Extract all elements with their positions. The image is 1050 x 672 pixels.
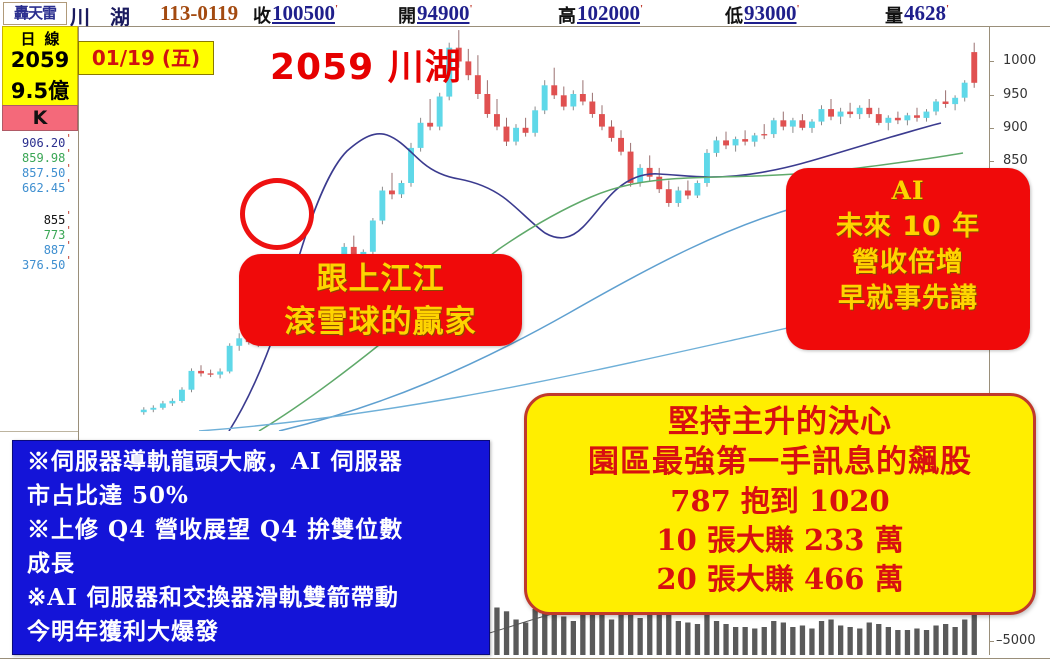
callout-yellow-line-1: 堅持主升的決心	[527, 402, 1033, 442]
low-label: 低	[725, 2, 743, 28]
close-value: 100500'	[272, 1, 338, 26]
callout-blue-line-2: 市占比達 50%	[27, 479, 489, 513]
callout-red-right-line-2: 未來 10 年	[786, 209, 1030, 245]
high-label: 高	[558, 2, 576, 28]
highlight-circle-annotation	[240, 178, 314, 250]
callout-blue-line-6: 今明年獲利大爆發	[27, 615, 489, 649]
open-value: 94900'	[417, 1, 473, 26]
panel-divider	[0, 431, 78, 432]
callout-yellow-right[interactable]: 堅持主升的決心 園區最強第一手訊息的飆股 787 抱到 1020 10 張大賺 …	[524, 393, 1036, 615]
open-label: 開	[398, 2, 416, 28]
broker-logo: 轟天雷	[3, 2, 67, 25]
close-label: 收	[253, 2, 271, 28]
vol-value-4: 376.50'	[0, 254, 72, 272]
y-label-850: 850	[1003, 153, 1028, 168]
callout-blue-line-5: ※AI 伺服器和交換器滑軌雙箭帶動	[27, 581, 489, 615]
page-title: 2059 川湖	[270, 38, 462, 90]
y-tick-vol-5000	[989, 641, 994, 642]
quote-header-bar: 轟天雷 川 湖 113-0119 收 100500' 開 94900' 高 10…	[0, 0, 1050, 27]
stock-code: 2059	[3, 48, 77, 72]
y-tick-900	[989, 128, 994, 129]
callout-red-left-line-2: 滾雪球的贏家	[239, 301, 522, 343]
turnover-value: 9.5億	[3, 75, 77, 105]
callout-blue-line-1: ※伺服器導軌龍頭大廠，AI 伺服器	[27, 445, 489, 479]
callout-red-right-line-4: 早就事先講	[786, 281, 1030, 317]
stock-name: 川 湖	[70, 1, 130, 30]
ma-value-4: 662.45'	[0, 177, 72, 195]
callout-blue-line-3: ※上修 Q4 營收展望 Q4 拚雙位數	[27, 513, 489, 547]
callout-red-left[interactable]: 跟上江江 滾雪球的贏家	[239, 254, 522, 346]
y-label-900: 900	[1003, 120, 1028, 135]
volume-label: 量	[885, 2, 903, 28]
callout-red-left-line-1: 跟上江江	[239, 257, 522, 301]
y-label-vol-5000: –5000	[996, 633, 1036, 648]
high-value: 102000'	[577, 1, 643, 26]
callout-red-right-line-1: AI	[786, 173, 1030, 209]
y-tick-850	[989, 161, 994, 162]
callout-yellow-line-5: 20 張大賺 466 萬	[527, 560, 1033, 599]
y-label-950: 950	[1003, 87, 1028, 102]
bottom-axis-line	[0, 658, 1050, 659]
callout-blue-line-4: 成長	[27, 547, 489, 581]
low-value: 93000'	[744, 1, 800, 26]
callout-yellow-line-2: 園區最強第一手訊息的飆股	[527, 442, 1033, 482]
callout-yellow-line-3: 787 抱到 1020	[527, 482, 1033, 521]
indicator-badge-k[interactable]: K	[2, 105, 78, 131]
y-label-1000: 1000	[1003, 53, 1036, 68]
y-tick-950	[989, 95, 994, 96]
left-info-panel: 日線 2059 9.5億 K 906.20' 859.98' 857.50' 6…	[0, 26, 79, 431]
y-tick-1000	[989, 61, 994, 62]
callout-red-right[interactable]: AI 未來 10 年 營收倍增 早就事先講	[786, 168, 1030, 350]
period-info-box[interactable]: 日線 2059 9.5億	[2, 26, 78, 106]
callout-blue-left[interactable]: ※伺服器導軌龍頭大廠，AI 伺服器 市占比達 50% ※上修 Q4 營收展望 Q…	[12, 440, 490, 655]
date-badge[interactable]: 01/19 (五)	[78, 41, 214, 75]
stock-chart-screenshot: 轟天雷 川 湖 113-0119 收 100500' 開 94900' 高 10…	[0, 0, 1050, 672]
callout-red-right-line-3: 營收倍增	[786, 245, 1030, 281]
callout-yellow-line-4: 10 張大賺 233 萬	[527, 521, 1033, 560]
volume-value: 4628'	[904, 1, 949, 26]
quote-date-code: 113-0119	[160, 1, 238, 26]
period-label: 日線	[3, 28, 77, 49]
